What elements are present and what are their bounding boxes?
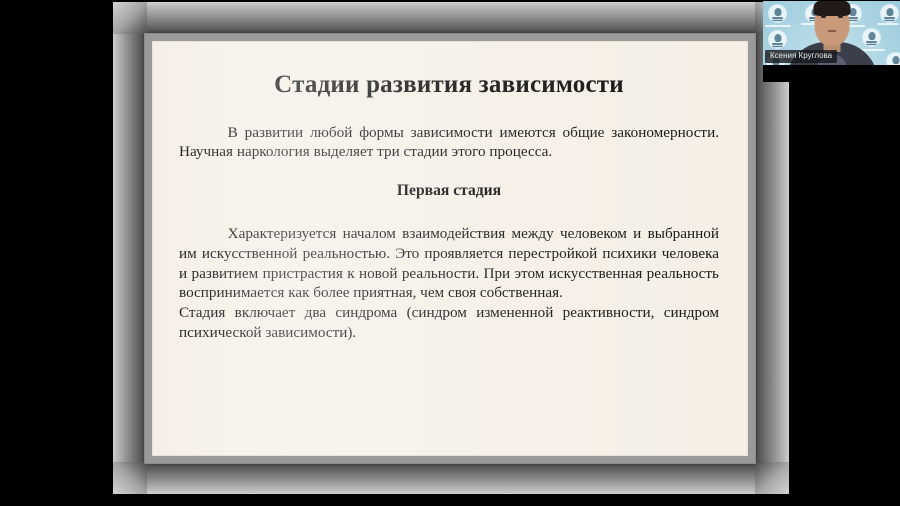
slide-picture-frame: Стадии развития зависимости В развитии л… — [113, 2, 789, 494]
avatar-eye-right — [838, 15, 843, 18]
frame-corner-bottom-right — [755, 462, 789, 494]
avatar-mouth — [827, 30, 836, 32]
slide-closing-paragraph: Стадия включает два синдрома (синдром из… — [179, 303, 719, 343]
frame-bevel-bottom — [113, 463, 789, 494]
frame-corner-bottom-left — [113, 462, 147, 494]
slide-intro-paragraph: В развитии любой формы зависимости имеют… — [179, 123, 719, 163]
participant-name-badge: Ксения Круглова — [765, 50, 837, 63]
presentation-slide: Стадии развития зависимости В развитии л… — [152, 41, 748, 456]
slide-body-paragraph: Характеризуется началом взаимодействия м… — [179, 224, 719, 303]
video-letterbox — [763, 65, 900, 82]
slide-subheading: Первая стадия — [179, 182, 719, 200]
slide-title: Стадии развития зависимости — [179, 71, 719, 99]
slide-mat: Стадии развития зависимости В развитии л… — [144, 33, 756, 464]
frame-bevel-left — [113, 2, 145, 494]
screen-root: Стадии развития зависимости В развитии л… — [0, 0, 900, 506]
frame-bevel-top — [113, 2, 789, 33]
avatar-eye-left — [821, 15, 826, 18]
video-participant-tile[interactable]: Ксения Круглова — [763, 1, 900, 82]
avatar-hair — [813, 1, 850, 16]
frame-corner-top-left — [113, 2, 147, 34]
